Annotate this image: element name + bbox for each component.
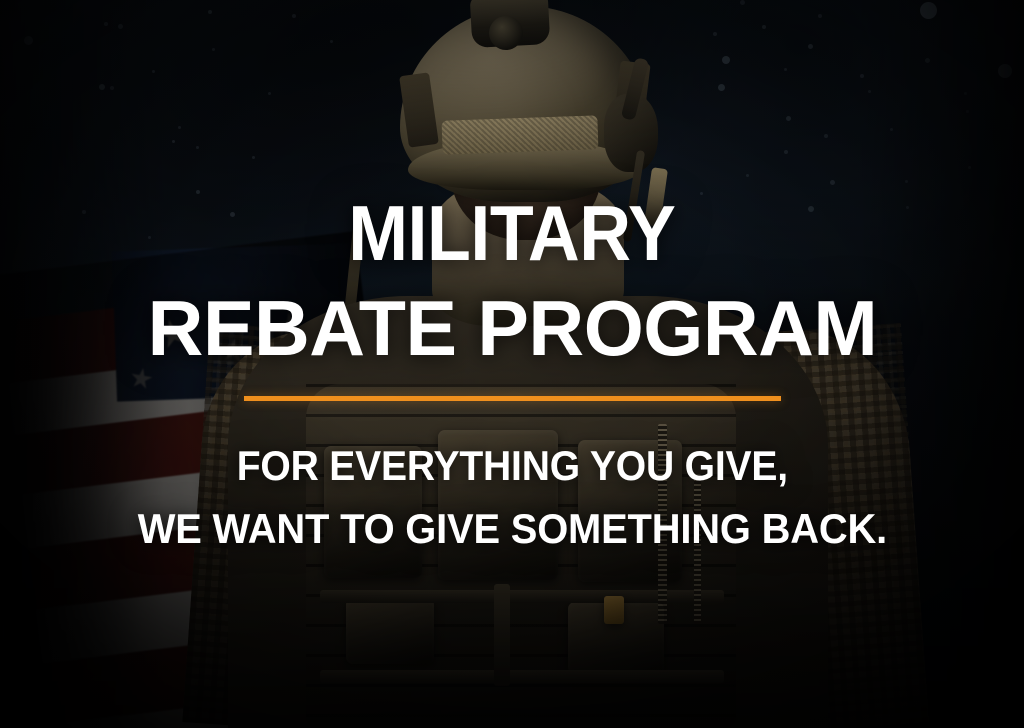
headline-line-2: REBATE PROGRAM — [147, 291, 877, 365]
military-rebate-banner: MILITARY REBATE PROGRAM FOR EVERYTHING Y… — [0, 0, 1024, 728]
subhead-line-2: WE WANT TO GIVE SOMETHING BACK. — [137, 508, 886, 550]
subhead-line-1: FOR EVERYTHING YOU GIVE, — [236, 445, 787, 487]
headline-line-1: MILITARY — [348, 196, 675, 270]
banner-content: MILITARY REBATE PROGRAM FOR EVERYTHING Y… — [0, 0, 1024, 728]
orange-divider — [244, 396, 781, 401]
